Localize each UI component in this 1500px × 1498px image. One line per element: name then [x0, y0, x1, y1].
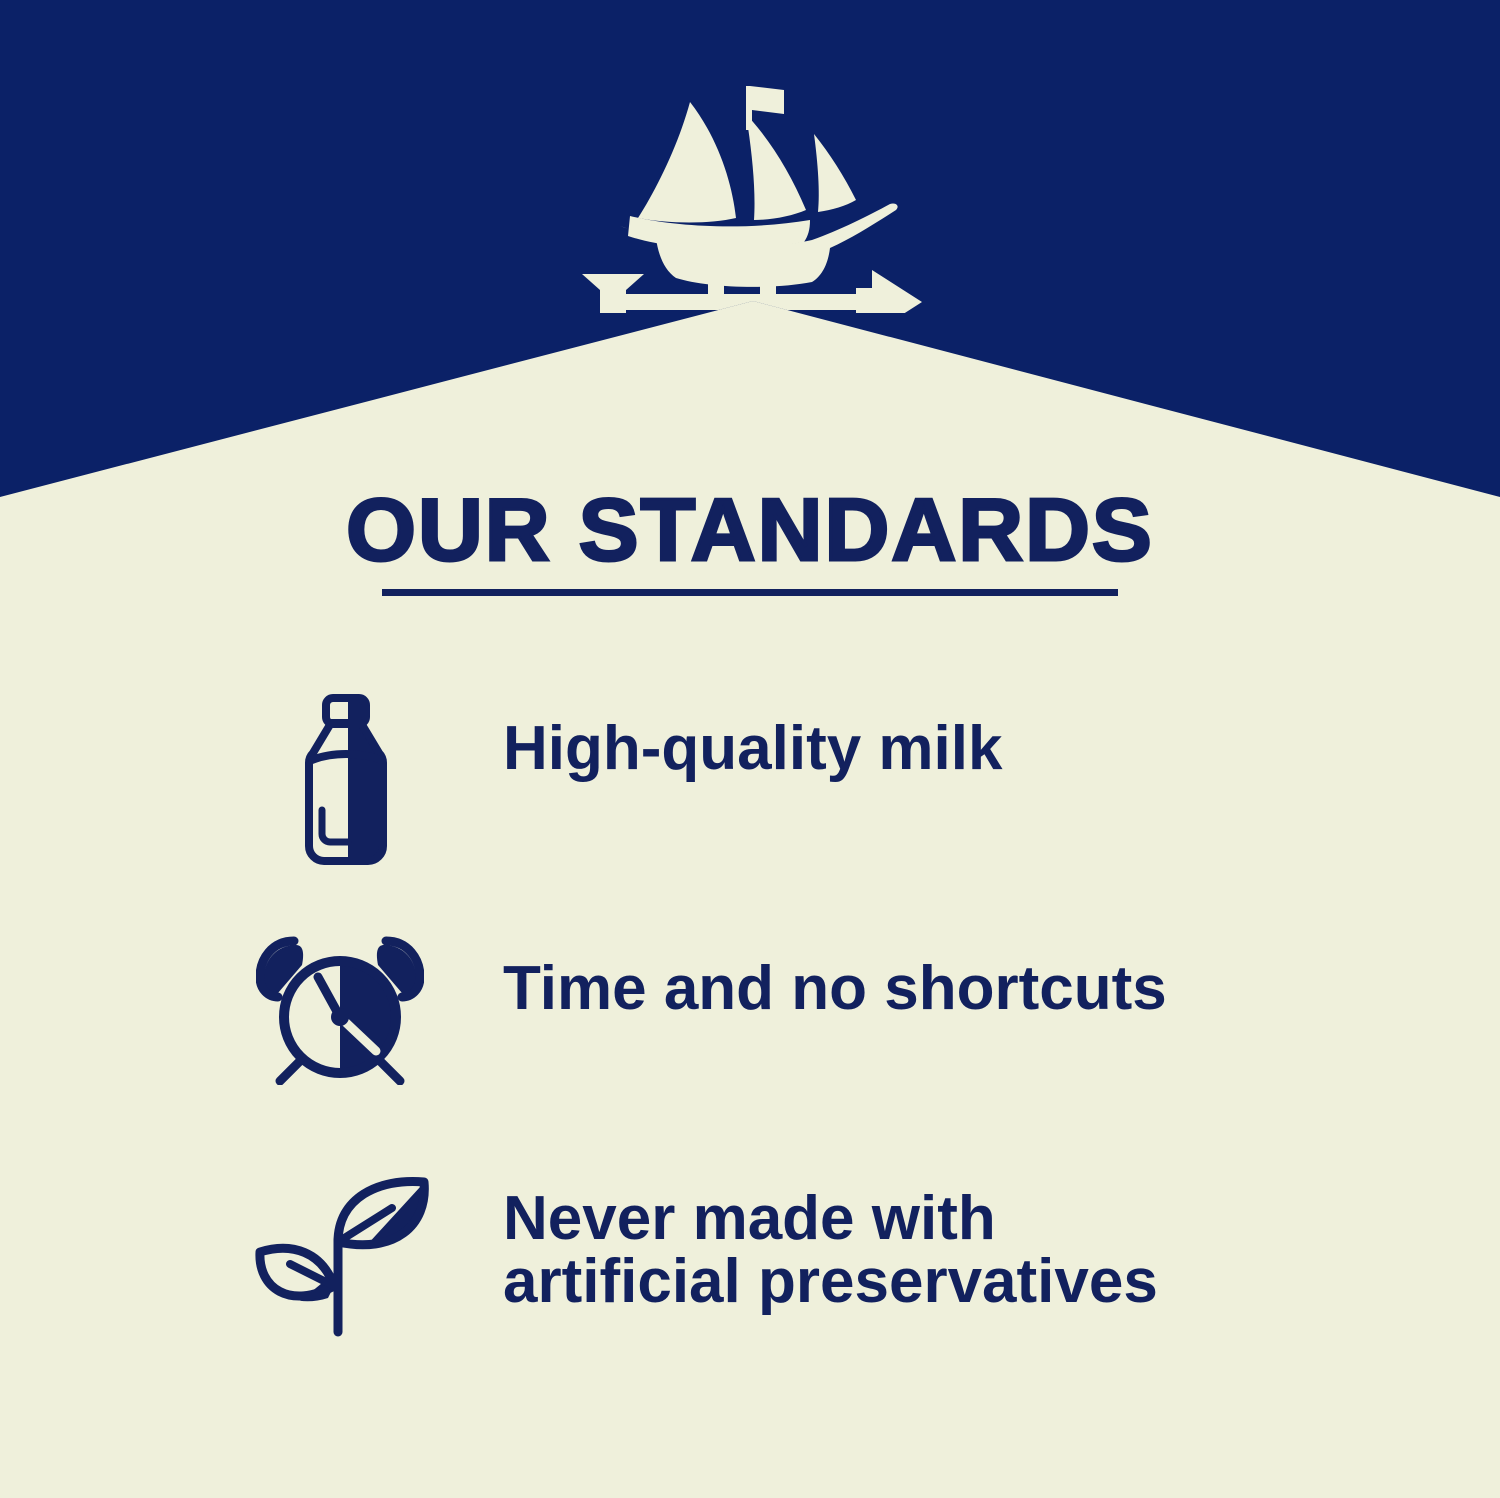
- alarm-clock-icon: [256, 935, 424, 1085]
- poster-canvas: OUR STANDARDS: [0, 0, 1500, 1498]
- title-underline-rule: [382, 589, 1118, 596]
- top-navy-banner: [0, 0, 1500, 500]
- list-item-label: Never made with artificial preservatives: [503, 1187, 1158, 1313]
- milk-bottle-icon: [296, 692, 396, 868]
- standards-list: High-quality milk: [0, 660, 1500, 1420]
- plant-sprout-icon: [252, 1174, 432, 1338]
- list-item-label: High-quality milk: [503, 717, 1002, 780]
- page-title-wrapper: OUR STANDARDS: [0, 486, 1500, 574]
- sailing-ship-weathervane-logo: [560, 78, 940, 313]
- list-item-label: Time and no shortcuts: [503, 957, 1167, 1020]
- page-title: OUR STANDARDS: [346, 486, 1154, 574]
